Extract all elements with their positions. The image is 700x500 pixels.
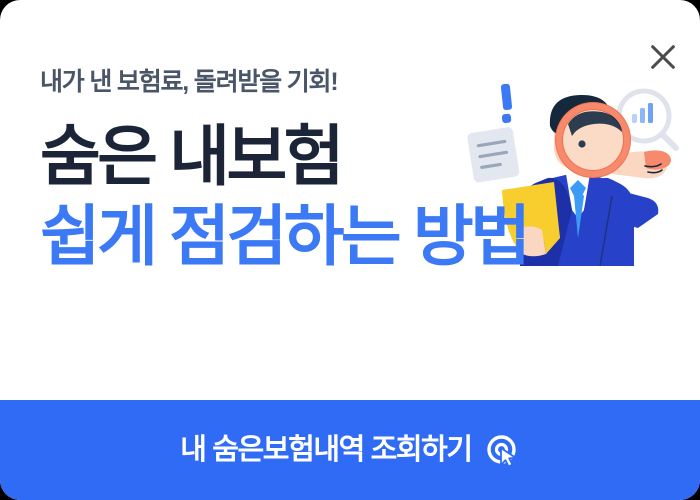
click-target-icon <box>486 434 520 468</box>
promo-banner-card: 내가 낸 보험료, 돌려받을 기회! 숨은 내보험 쉽게 점검하는 방법 <box>0 0 700 500</box>
headline-line-2: 쉽게 점검하는 방법 <box>40 203 680 269</box>
cta-bar[interactable]: 내 숨은보험내역 조회하기 <box>0 400 700 500</box>
close-button[interactable] <box>640 34 686 80</box>
headline-line-1: 숨은 내보험 <box>40 123 680 189</box>
banner-text-block: 내가 낸 보험료, 돌려받을 기회! 숨은 내보험 쉽게 점검하는 방법 <box>40 70 680 269</box>
cta-label: 내 숨은보험내역 조회하기 <box>180 436 471 465</box>
eyebrow-text: 내가 낸 보험료, 돌려받을 기회! <box>40 70 680 95</box>
